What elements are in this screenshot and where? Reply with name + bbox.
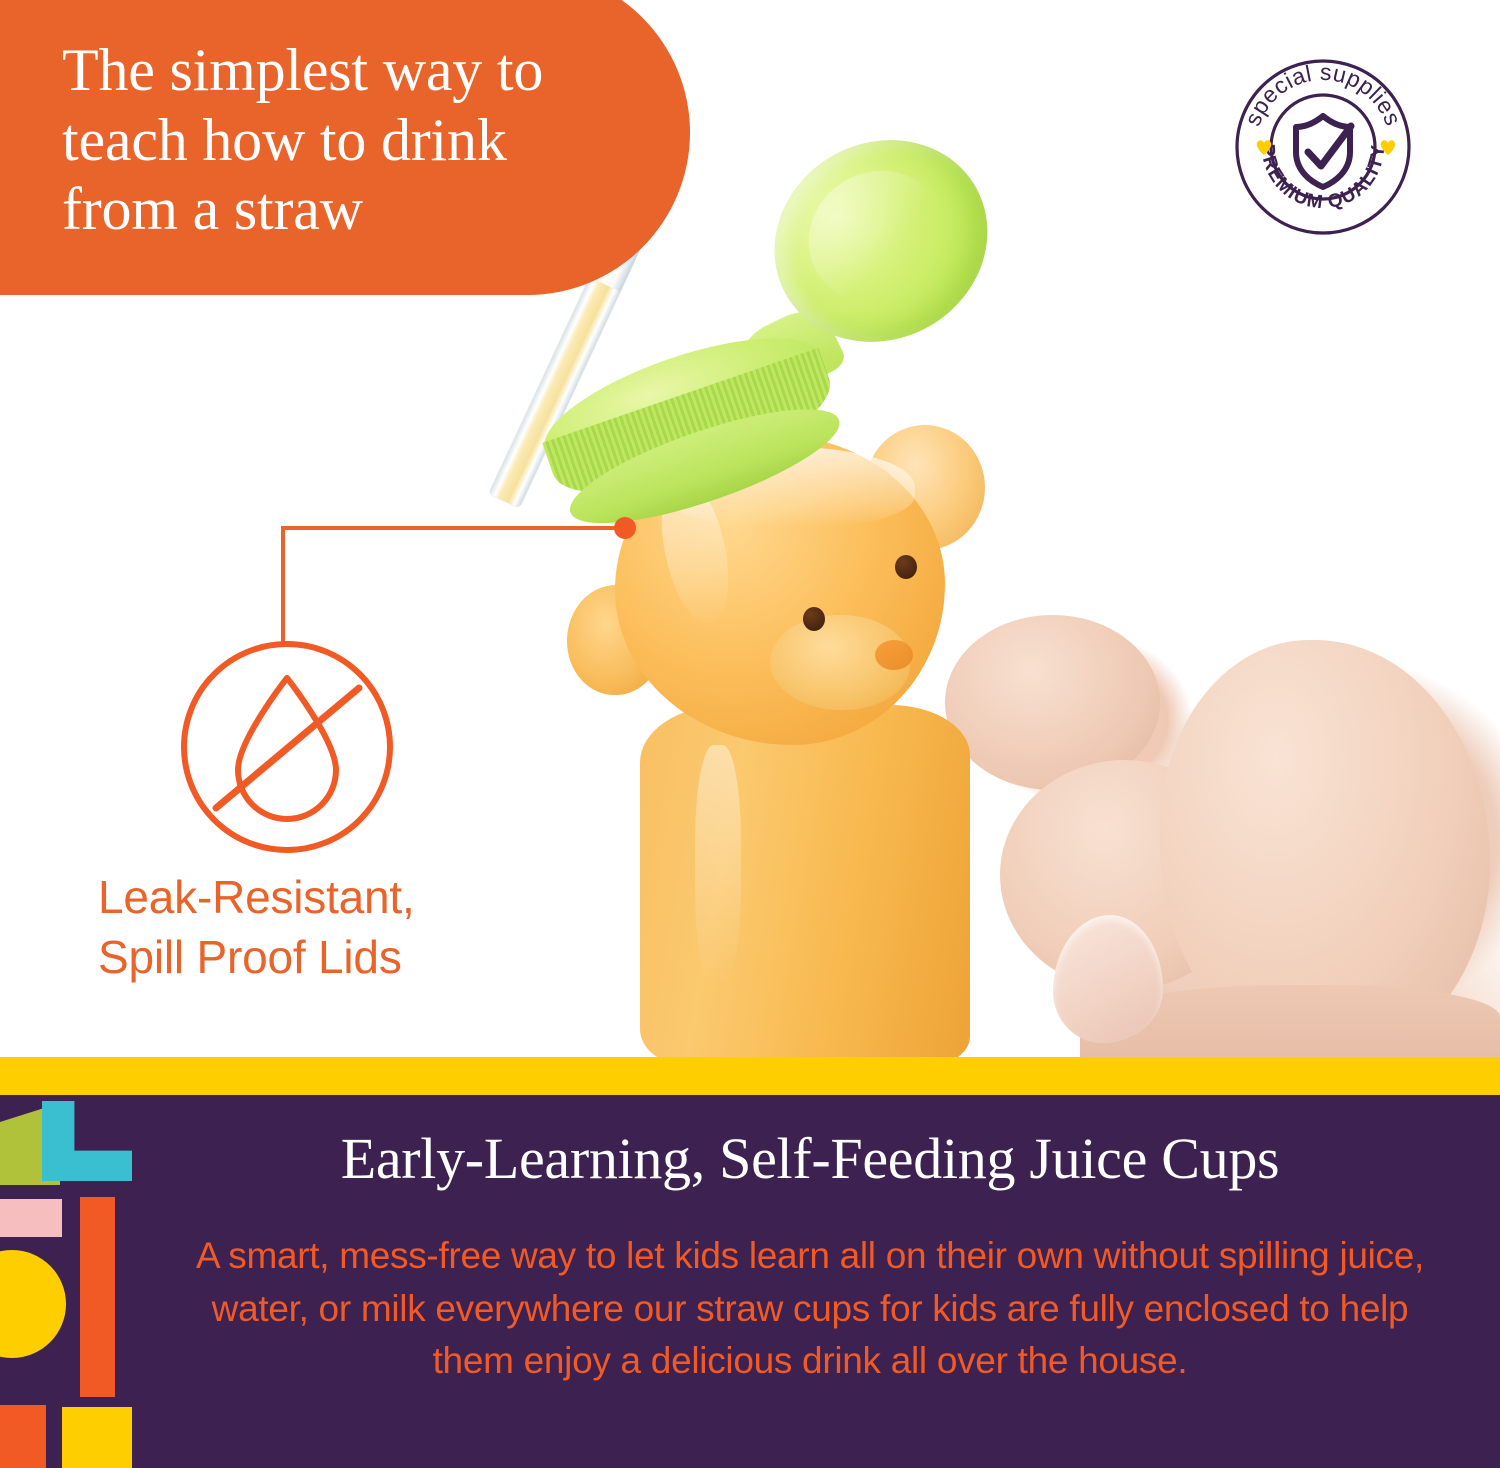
pink-rectangle-shape <box>0 1199 62 1237</box>
page-title: The simplest way to teach how to drink f… <box>62 36 662 245</box>
bottle-highlight-lower <box>695 745 741 985</box>
bear-eye-right <box>895 555 917 579</box>
orange-square-shape <box>0 1405 46 1468</box>
bottom-banner: Early-Learning, Self-Feeding Juice Cups … <box>0 1095 1500 1468</box>
bear-nose <box>875 640 913 670</box>
bear-eye-left <box>803 607 825 631</box>
yellow-square-shape <box>62 1407 132 1468</box>
yellow-divider <box>0 1057 1500 1095</box>
hero-line-1: The simplest way to <box>62 36 662 106</box>
callout-label: Leak-Resistant, Spill Proof Lids <box>98 868 415 988</box>
banner-title: Early-Learning, Self-Feeding Juice Cups <box>0 1129 1500 1188</box>
premium-quality-seal: special supplies PREMIUM QUALITY <box>1232 56 1414 238</box>
yellow-circle-shape <box>0 1250 66 1358</box>
banner-body: A smart, mess-free way to let kids learn… <box>195 1230 1425 1388</box>
bottle-body <box>640 705 970 1057</box>
hero-line-2: teach how to drink <box>62 106 662 176</box>
orange-vertical-bar-shape <box>80 1197 115 1397</box>
hero-line-3: from a straw <box>62 175 662 245</box>
flip-cap-highlight <box>785 146 971 329</box>
callout-line-2: Spill Proof Lids <box>98 928 415 988</box>
infographic-canvas: Leak-Resistant, Spill Proof Lids The sim… <box>0 0 1500 1468</box>
callout-line-1: Leak-Resistant, <box>98 868 415 928</box>
no-drip-icon <box>176 636 398 858</box>
